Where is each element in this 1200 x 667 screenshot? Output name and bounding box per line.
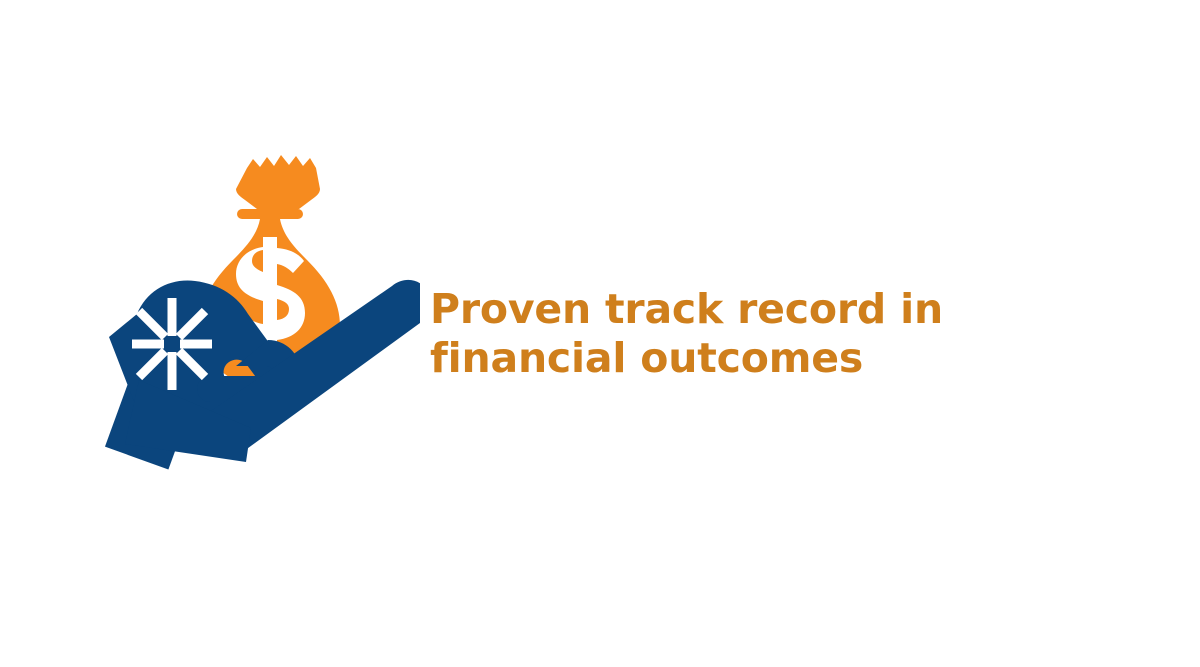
hand-holding-money-bag-icon: [20, 140, 420, 480]
headline-line-2: financial outcomes: [430, 334, 950, 383]
headline-line-1: Proven track record in: [430, 285, 950, 334]
money-bag-neck: [237, 209, 303, 219]
headline: Proven track record in financial outcome…: [430, 285, 950, 383]
money-bag-top-ruffle: [236, 155, 320, 209]
banner-root: Proven track record in financial outcome…: [0, 0, 1200, 667]
